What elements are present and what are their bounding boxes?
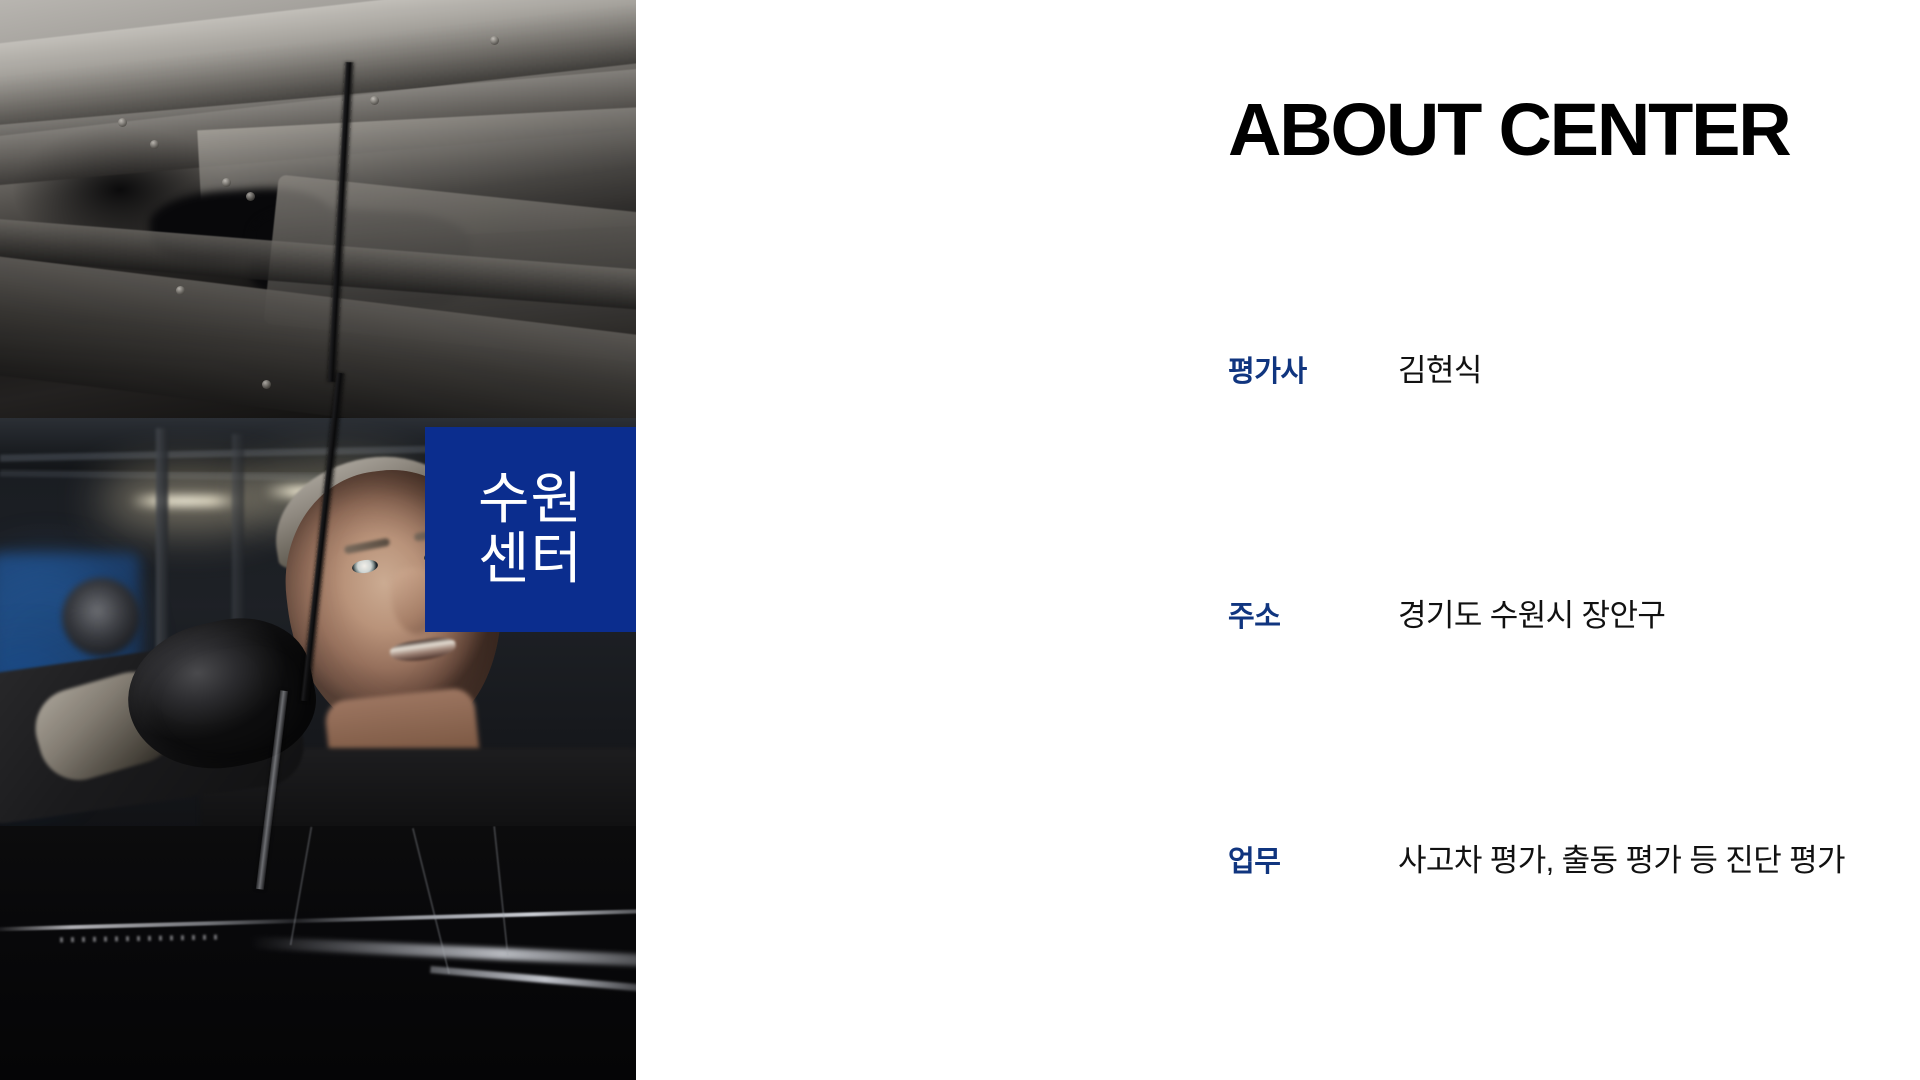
bolt-detail [150,140,159,149]
info-value-evaluator: 김현식 [1398,352,1920,391]
info-value-service: 사고차 평가, 출동 평가 등 진단 평가 [1398,842,1920,881]
bolt-detail [176,286,185,295]
info-row-address: 주소 경기도 수원시 장안구 [1228,597,1920,842]
bolt-detail [262,380,271,389]
about-center-slide: 수원 센터 ABOUT CENTER 평가사 김현식 주소 경기도 수원시 장안… [0,0,1920,1080]
bolt-detail [370,96,379,105]
info-label-evaluator: 평가사 [1228,352,1398,390]
vehicle-undercarriage-image [0,0,636,430]
windshield-wiper [430,966,636,993]
wire-strand [290,827,313,946]
fluorescent-light [130,496,240,506]
wire-strand [493,826,509,955]
info-row-service: 업무 사고차 평가, 출동 평가 등 진단 평가 [1228,842,1920,881]
tire-prop [62,578,140,656]
page-title: ABOUT CENTER [1228,93,1789,167]
info-value-address: 경기도 수원시 장안구 [1398,597,1920,636]
content-panel: ABOUT CENTER 평가사 김현식 주소 경기도 수원시 장안구 업무 사… [636,0,1920,1080]
hood-reflection-speckle [60,935,220,943]
info-label-address: 주소 [1228,597,1398,635]
car-hood-image [0,826,636,1080]
bolt-detail [490,36,499,45]
support-post [232,434,244,624]
bolt-detail [222,178,231,187]
bolt-detail [118,118,127,127]
badge-line-1: 수원 [478,470,583,529]
badge-line-2: 센터 [478,530,583,589]
bolt-detail [246,192,255,201]
info-row-evaluator: 평가사 김현식 [1228,352,1920,597]
center-info-list: 평가사 김현식 주소 경기도 수원시 장안구 업무 사고차 평가, 출동 평가 … [1228,352,1920,881]
info-label-service: 업무 [1228,842,1398,880]
center-name-badge: 수원 센터 [425,427,636,632]
hood-highlight-edge [0,909,636,932]
center-photo-panel: 수원 센터 [0,0,636,1080]
